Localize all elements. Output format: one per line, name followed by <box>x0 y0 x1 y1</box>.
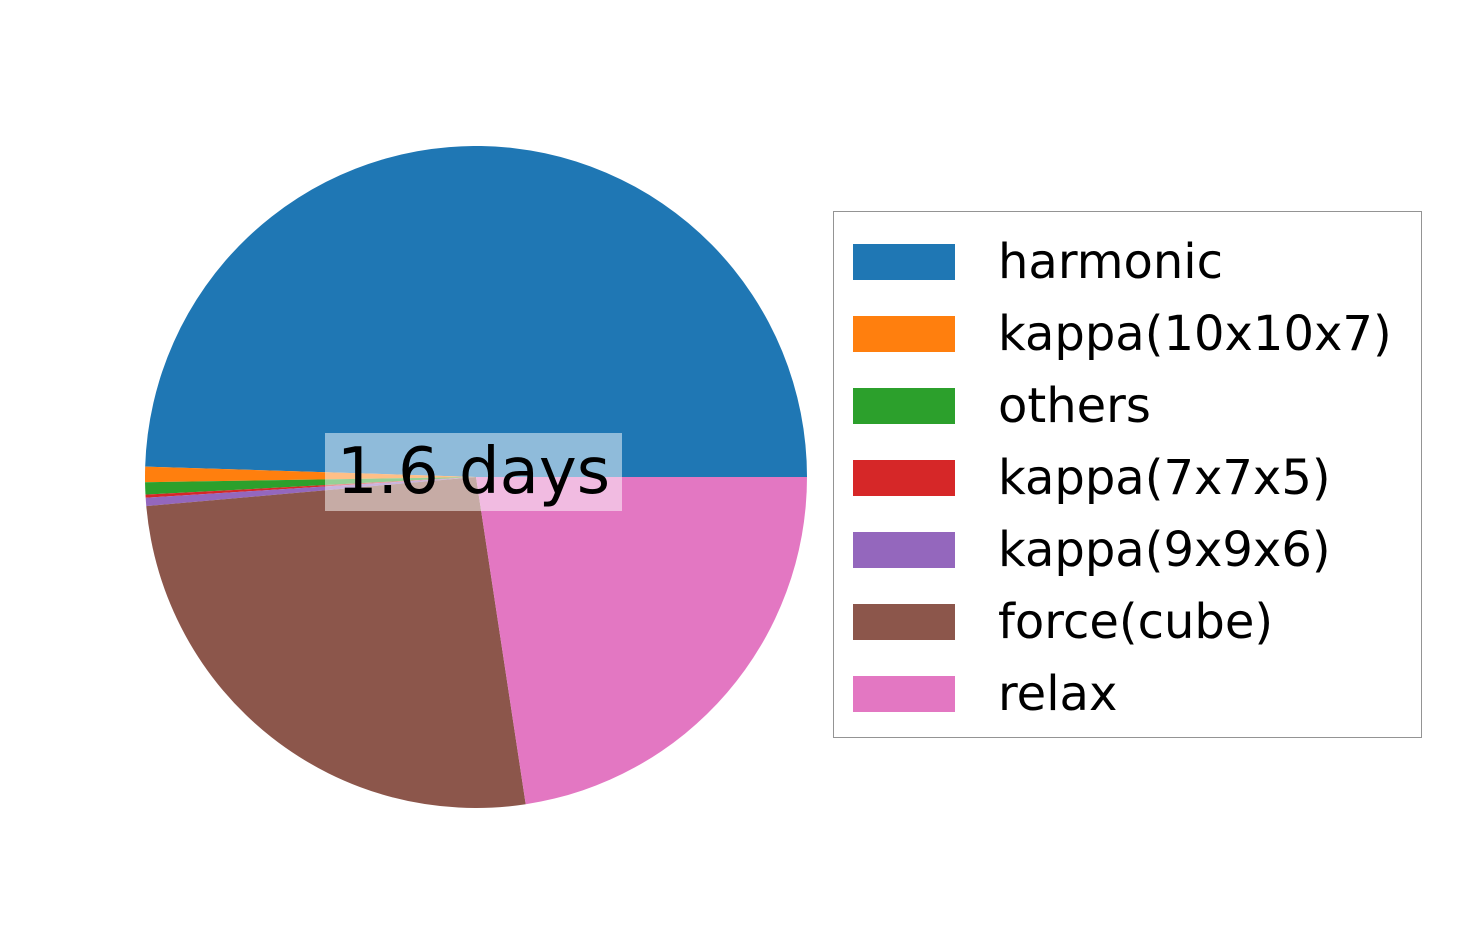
legend-swatch-icon <box>853 532 955 568</box>
legend-item-label: harmonic <box>998 238 1223 286</box>
legend-swatch-icon <box>853 604 955 640</box>
legend-item[interactable]: harmonic <box>853 226 1421 298</box>
legend-item[interactable]: kappa(9x9x6) <box>853 514 1421 586</box>
legend-items: harmonickappa(10x10x7)otherskappa(7x7x5)… <box>853 226 1421 730</box>
legend-item-label: force(cube) <box>998 598 1273 646</box>
legend-item[interactable]: relax <box>853 658 1421 730</box>
legend-swatch-icon <box>853 460 955 496</box>
pie-center-label: 1.6 days <box>325 433 622 511</box>
legend-item[interactable]: others <box>853 370 1421 442</box>
legend-item-label: relax <box>998 670 1117 718</box>
legend-swatch-icon <box>853 388 955 424</box>
legend-item-label: kappa(9x9x6) <box>998 526 1331 574</box>
pie-chart-figure: 1.6 days harmonickappa(10x10x7)otherskap… <box>0 0 1483 951</box>
pie-slice[interactable] <box>146 477 525 808</box>
pie-slice[interactable] <box>145 146 807 477</box>
legend-box: harmonickappa(10x10x7)otherskappa(7x7x5)… <box>833 211 1422 738</box>
legend-item[interactable]: kappa(7x7x5) <box>853 442 1421 514</box>
legend-swatch-icon <box>853 316 955 352</box>
legend-item-label: kappa(7x7x5) <box>998 454 1331 502</box>
legend-item-label: others <box>998 382 1151 430</box>
legend-item[interactable]: force(cube) <box>853 586 1421 658</box>
pie-slice[interactable] <box>476 477 807 804</box>
pie-center-label-text: 1.6 days <box>337 440 610 504</box>
legend-swatch-icon <box>853 244 955 280</box>
legend-item-label: kappa(10x10x7) <box>998 310 1392 358</box>
legend-swatch-icon <box>853 676 955 712</box>
legend-item[interactable]: kappa(10x10x7) <box>853 298 1421 370</box>
